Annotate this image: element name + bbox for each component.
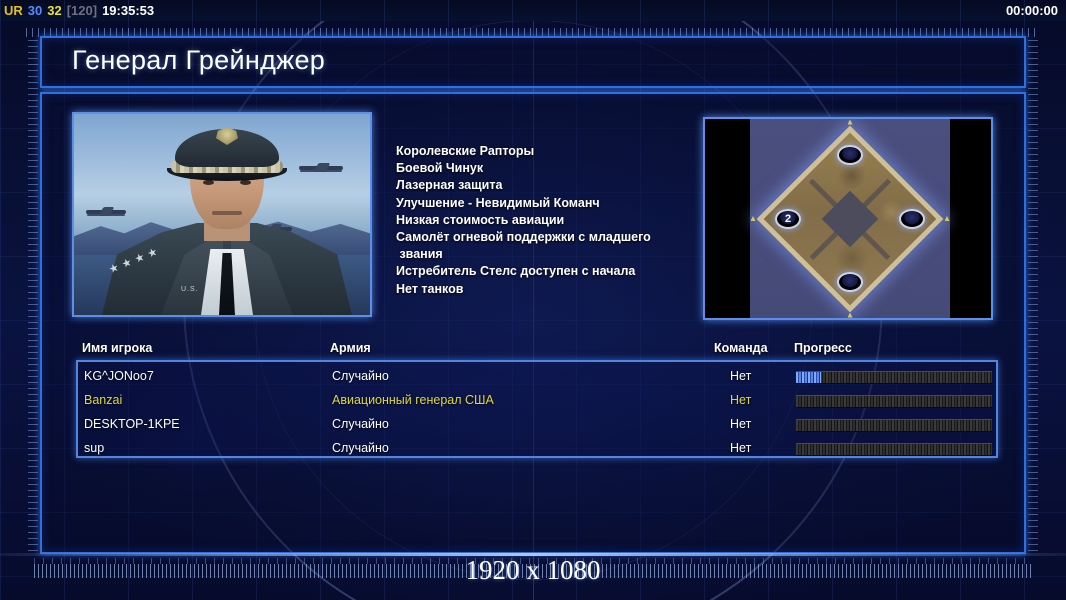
general-mouth bbox=[212, 211, 242, 215]
column-header-team: Команда bbox=[714, 341, 768, 355]
general-figure: ★ ★ ★ ★ U.S. bbox=[102, 123, 352, 315]
player-progress-bar bbox=[796, 419, 992, 432]
player-team[interactable]: Нет bbox=[730, 393, 751, 407]
ability-item: Королевские Рапторы bbox=[396, 143, 696, 160]
table-row[interactable]: KG^JONoo7 Случайно Нет bbox=[78, 366, 996, 390]
ruler-left-decoration bbox=[28, 40, 38, 554]
map-corner-marker bbox=[945, 216, 950, 221]
ruler-right-decoration bbox=[1028, 40, 1038, 554]
table-row[interactable]: sup Случайно Нет bbox=[78, 438, 996, 462]
resolution-label: 1920 x 1080 bbox=[0, 555, 1066, 586]
ur-label: UR bbox=[4, 3, 23, 18]
game-lobby-screen: UR 30 32 [120] 19:35:53 00:00:00 Генерал… bbox=[0, 0, 1066, 600]
ability-item: звания bbox=[396, 246, 696, 263]
ability-item: Самолёт огневой поддержки с младшего bbox=[396, 229, 696, 246]
player-name: DESKTOP-1KPE bbox=[84, 417, 180, 431]
status-bar-grid bbox=[0, 0, 1066, 21]
map-start-position[interactable] bbox=[899, 209, 925, 229]
player-name: sup bbox=[84, 441, 104, 455]
player-progress-bar bbox=[796, 395, 992, 408]
fps-cap-value: [120] bbox=[67, 3, 97, 18]
general-eye-right bbox=[240, 180, 251, 185]
status-bar: UR 30 32 [120] 19:35:53 00:00:00 bbox=[0, 0, 1066, 21]
general-abilities-list: Королевские Рапторы Боевой Чинук Лазерна… bbox=[396, 143, 696, 298]
page-title: Генерал Грейнджер bbox=[72, 45, 325, 76]
ability-item: Низкая стоимость авиации bbox=[396, 212, 696, 229]
table-row[interactable]: Banzai Авиационный генерал США Нет bbox=[78, 390, 996, 414]
map-start-position[interactable] bbox=[837, 145, 863, 165]
player-team[interactable]: Нет bbox=[730, 369, 751, 383]
player-army[interactable]: Случайно bbox=[332, 417, 389, 431]
column-header-name: Имя игрока bbox=[82, 341, 152, 355]
ability-item: Истребитель Стелс доступен с начала bbox=[396, 263, 696, 280]
general-eye-left bbox=[203, 180, 214, 185]
player-progress-bar bbox=[796, 371, 992, 384]
column-header-progress: Прогресс bbox=[794, 341, 852, 355]
match-timer: 00:00:00 bbox=[1006, 3, 1058, 18]
ability-item: Улучшение - Невидимый Команч bbox=[396, 195, 696, 212]
player-team[interactable]: Нет bbox=[730, 441, 751, 455]
system-clock: 19:35:53 bbox=[102, 3, 154, 18]
map-field: 2 bbox=[750, 119, 950, 318]
us-insignia: U.S. bbox=[181, 286, 199, 293]
column-header-army: Армия bbox=[330, 341, 371, 355]
player-team[interactable]: Нет bbox=[730, 417, 751, 431]
player-table: KG^JONoo7 Случайно Нет Banzai Авиационны… bbox=[76, 360, 998, 458]
map-corner-marker bbox=[751, 216, 756, 221]
map-corner-marker bbox=[848, 313, 853, 318]
ability-item: Боевой Чинук bbox=[396, 160, 696, 177]
player-army[interactable]: Авиационный генерал США bbox=[332, 393, 494, 407]
progress-fill bbox=[796, 372, 821, 383]
fps-alt-value: 32 bbox=[47, 3, 61, 18]
map-start-position-occupied[interactable]: 2 bbox=[775, 209, 801, 229]
player-name: Banzai bbox=[84, 393, 122, 407]
player-table-header: Имя игрока Армия Команда Прогресс bbox=[82, 341, 992, 358]
map-preview[interactable]: 2 bbox=[703, 117, 993, 320]
ability-item: Нет танков bbox=[396, 281, 696, 298]
status-bar-left-group: UR 30 32 [120] 19:35:53 bbox=[0, 3, 154, 18]
player-army[interactable]: Случайно bbox=[332, 441, 389, 455]
player-name: KG^JONoo7 bbox=[84, 369, 154, 383]
general-portrait: ★ ★ ★ ★ U.S. bbox=[72, 112, 372, 317]
table-row[interactable]: DESKTOP-1KPE Случайно Нет bbox=[78, 414, 996, 438]
fps-value: 30 bbox=[28, 3, 42, 18]
player-army[interactable]: Случайно bbox=[332, 369, 389, 383]
player-progress-bar bbox=[796, 443, 992, 456]
ability-item: Лазерная защита bbox=[396, 177, 696, 194]
map-corner-marker bbox=[848, 120, 853, 125]
